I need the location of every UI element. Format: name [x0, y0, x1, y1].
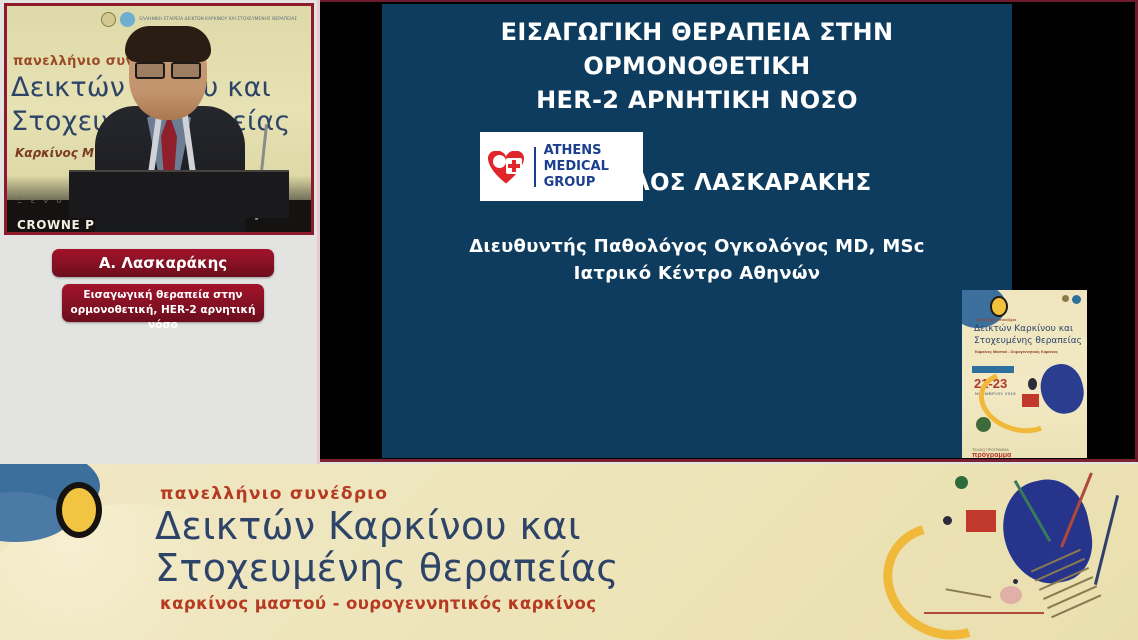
slide-presenter-role: Διευθυντής Παθολόγος Ογκολόγος MD, MSc — [382, 236, 1012, 257]
poster-crab-icon — [1072, 295, 1081, 304]
speaker-video[interactable]: ΕΛΛΗΝΙΚΗ ΕΤΑΙΡΕΙΑ ΔΕΙΚΤΩΝ ΚΑΡΚΙΝΟΥ ΚΑΙ Σ… — [4, 3, 314, 235]
podium — [69, 170, 289, 218]
poster-eyebrow: πανελλήνιο συνέδριο — [976, 318, 1017, 322]
logo-text-line-1: ATHENS MEDICAL — [544, 143, 643, 175]
slide-area: ΕΙΣΑΓΩΓΙΚΗ ΘΕΡΑΠΕΙΑ ΣΤΗΝ ΟΡΜΟΝΟΘΕΤΙΚΗ HE… — [320, 0, 1138, 462]
speaker-hair — [125, 26, 211, 62]
banner-ring-icon — [56, 482, 102, 538]
banner-eyebrow: πανελλήνιο συνέδριο — [160, 484, 388, 504]
logo-divider — [534, 147, 536, 187]
conference-poster-thumbnail: πανελλήνιο συνέδριο Δεικτών Καρκίνου και… — [962, 290, 1087, 458]
slide-title-line-2: ΟΡΜΟΝΟΘΕΤΙΚΗ — [382, 52, 1012, 80]
art-green-dot — [955, 476, 968, 489]
banner-artwork — [838, 464, 1138, 640]
backdrop-society-text: ΕΛΛΗΝΙΚΗ ΕΤΑΙΡΕΙΑ ΔΕΙΚΤΩΝ ΚΑΡΚΙΝΟΥ ΚΑΙ Σ… — [139, 17, 297, 23]
poster-footer: πρόγραμμα — [972, 452, 1011, 458]
backdrop-society-logos: ΕΛΛΗΝΙΚΗ ΕΤΑΙΡΕΙΑ ΔΕΙΚΤΩΝ ΚΑΡΚΙΝΟΥ ΚΑΙ Σ… — [101, 12, 297, 27]
banner-title-line-2: Στοχευμένης θεραπείας — [155, 546, 619, 590]
art-fan — [939, 588, 992, 637]
slide-title-line-3: HER-2 ΑΡΝΗΤΙΚΗ ΝΟΣΟ — [382, 86, 1012, 114]
top-region: ΕΛΛΗΝΙΚΗ ΕΤΑΙΡΕΙΑ ΔΕΙΚΤΩΝ ΚΑΡΚΙΝΟΥ ΚΑΙ Σ… — [0, 0, 1138, 464]
art-red-square — [966, 510, 996, 532]
speaker-name-plate: Α. Λασκαράκης — [52, 249, 274, 277]
slide-title-line-1: ΕΙΣΑΓΩΓΙΚΗ ΘΕΡΑΠΕΙΑ ΣΤΗΝ — [382, 18, 1012, 46]
poster-subtitle: Καρκίνος Μαστού - Ουρογεννητικός Καρκίνο… — [975, 350, 1058, 354]
logo-text-line-2: GROUP — [544, 175, 643, 191]
art-dark-dot — [943, 516, 952, 525]
poster-dark-dot — [1028, 378, 1037, 390]
athens-medical-group-logo: ATHENS MEDICAL GROUP — [480, 132, 643, 201]
slide-presenter-affiliation: Ιατρικό Κέντρο Αθηνών — [382, 263, 1012, 284]
heart-cross-icon — [488, 149, 526, 185]
presentation-slide[interactable]: ΕΙΣΑΓΩΓΙΚΗ ΘΕΡΑΠΕΙΑ ΣΤΗΝ ΟΡΜΟΝΟΘΕΤΙΚΗ HE… — [382, 4, 1012, 458]
poster-ring-icon — [990, 296, 1008, 317]
logo-text: ATHENS MEDICAL GROUP — [544, 143, 643, 191]
video-backdrop: ΕΛΛΗΝΙΚΗ ΕΤΑΙΡΕΙΑ ΔΕΙΚΤΩΝ ΚΑΡΚΙΝΟΥ ΚΑΙ Σ… — [7, 6, 311, 232]
slide-presenter-name: ΑΠΟΣΤΟΛΟΣ ΛΑΣΚΑΡΑΚΗΣ — [382, 170, 1012, 196]
banner-title-line-1: Δεικτών Καρκίνου και — [155, 504, 581, 548]
poster-green-dot — [976, 417, 991, 432]
poster-title-line-2: Στοχευμένης θεραπείας — [974, 336, 1082, 346]
poster-title-line-1: Δεικτών Καρκίνου και — [974, 324, 1073, 334]
topic-line-2: ορμονοθετική, HER-2 αρνητική νόσο — [62, 303, 264, 333]
art-pink-blob — [1000, 586, 1022, 604]
topic-line-1: Εισαγωγική θεραπεία στην — [62, 288, 264, 303]
poster-seal-icon — [1062, 295, 1069, 302]
speaker-topic-plate: Εισαγωγική θεραπεία στην ορμονοθετική, H… — [62, 284, 264, 322]
backdrop-venue: CROWNE PL — [17, 218, 103, 232]
glasses-icon — [135, 62, 201, 75]
conference-banner: πανελλήνιο συνέδριο Δεικτών Καρκίνου και… — [0, 464, 1138, 640]
speaker-panel: ΕΛΛΗΝΙΚΗ ΕΤΑΙΡΕΙΑ ΔΕΙΚΤΩΝ ΚΑΡΚΙΝΟΥ ΚΑΙ Σ… — [0, 0, 318, 464]
crab-icon — [120, 12, 135, 27]
art-stroke-3 — [1094, 495, 1119, 585]
banner-subtitle: καρκίνος μαστού - ουρογεννητικός καρκίνο… — [160, 594, 596, 613]
art-small-dot — [1013, 579, 1018, 584]
seal-icon — [101, 12, 116, 27]
poster-red-square — [1022, 394, 1039, 407]
webinar-player: ΕΛΛΗΝΙΚΗ ΕΤΑΙΡΕΙΑ ΔΕΙΚΤΩΝ ΚΑΡΚΙΝΟΥ ΚΑΙ Σ… — [0, 0, 1138, 640]
